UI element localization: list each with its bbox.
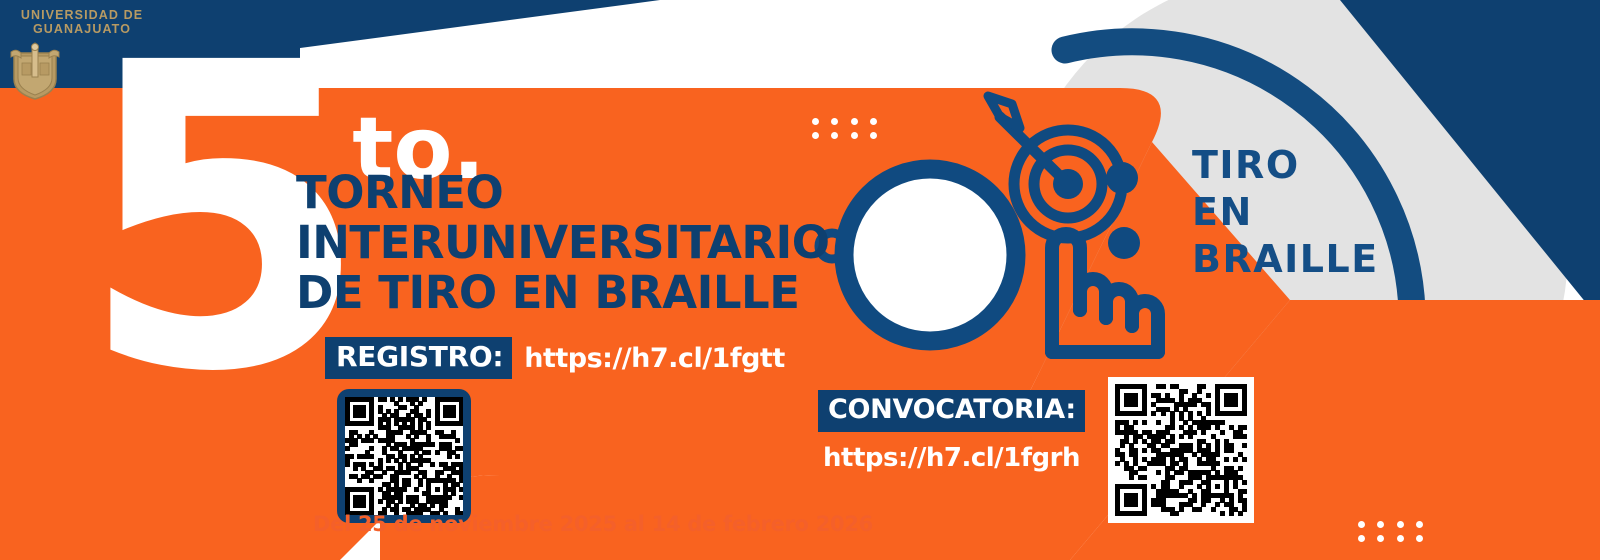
braille-dot: [870, 132, 877, 139]
braille-dot: [1397, 535, 1404, 542]
right-heading-line-2: EN: [1192, 189, 1379, 236]
braille-dot: [1377, 521, 1384, 528]
braille-dot: [812, 118, 819, 125]
event-banner: UNIVERSIDAD DE GUANAJUATO 5 to. TORNEO I…: [0, 0, 1600, 560]
event-dates: Del 25 de noviembre 2025 al 14 de febrer…: [313, 512, 873, 536]
braille-dots-top: [812, 118, 885, 146]
braille-dot: [1416, 521, 1423, 528]
registro-label: REGISTRO:: [325, 337, 512, 379]
page-title: TORNEO INTERUNIVERSITARIO DE TIRO EN BRA…: [296, 168, 829, 318]
braille-dot: [1358, 535, 1365, 542]
convocatoria-qr-code[interactable]: [1108, 377, 1254, 523]
braille-dot-row: [1358, 521, 1431, 535]
braille-dot: [812, 132, 819, 139]
university-crest: [8, 39, 62, 101]
braille-dot-row: [812, 118, 885, 132]
registro-row: REGISTRO: https://h7.cl/1fgtt: [325, 337, 785, 379]
title-line-3: DE TIRO EN BRAILLE: [296, 268, 829, 318]
circle-outline-decor: [844, 169, 1016, 341]
braille-dot: [831, 118, 838, 125]
braille-dot: [1397, 521, 1404, 528]
braille-dot: [1358, 521, 1365, 528]
right-heading: TIRO EN BRAILLE: [1192, 142, 1379, 283]
title-line-2: INTERUNIVERSITARIO: [296, 218, 829, 268]
braille-dot: [1377, 535, 1384, 542]
braille-dot: [831, 132, 838, 139]
braille-dot: [1416, 535, 1423, 542]
braille-dot: [851, 118, 858, 125]
university-name: UNIVERSIDAD DE GUANAJUATO: [12, 8, 152, 36]
university-name-line1: UNIVERSIDAD DE: [21, 8, 143, 22]
university-name-line2: GUANAJUATO: [33, 22, 131, 36]
right-heading-line-1: TIRO: [1192, 142, 1379, 189]
registro-url[interactable]: https://h7.cl/1fgtt: [524, 343, 785, 374]
registro-qr-code[interactable]: [337, 389, 471, 523]
convocatoria-label: CONVOCATORIA:: [818, 390, 1085, 432]
convocatoria-url[interactable]: https://h7.cl/1fgrh: [823, 443, 1085, 473]
title-line-1: TORNEO: [296, 168, 829, 218]
braille-dot: [870, 118, 877, 125]
university-logo: UNIVERSIDAD DE GUANAJUATO: [8, 8, 168, 106]
braille-dots-bottom: [1358, 521, 1431, 549]
braille-dot-row: [812, 132, 885, 146]
convocatoria-block: CONVOCATORIA: https://h7.cl/1fgrh: [818, 390, 1085, 473]
braille-dot-upper: [1106, 162, 1138, 194]
right-heading-line-3: BRAILLE: [1192, 236, 1379, 283]
braille-dot: [851, 132, 858, 139]
braille-dot-lower: [1108, 227, 1140, 259]
braille-dot-row: [1358, 535, 1431, 549]
